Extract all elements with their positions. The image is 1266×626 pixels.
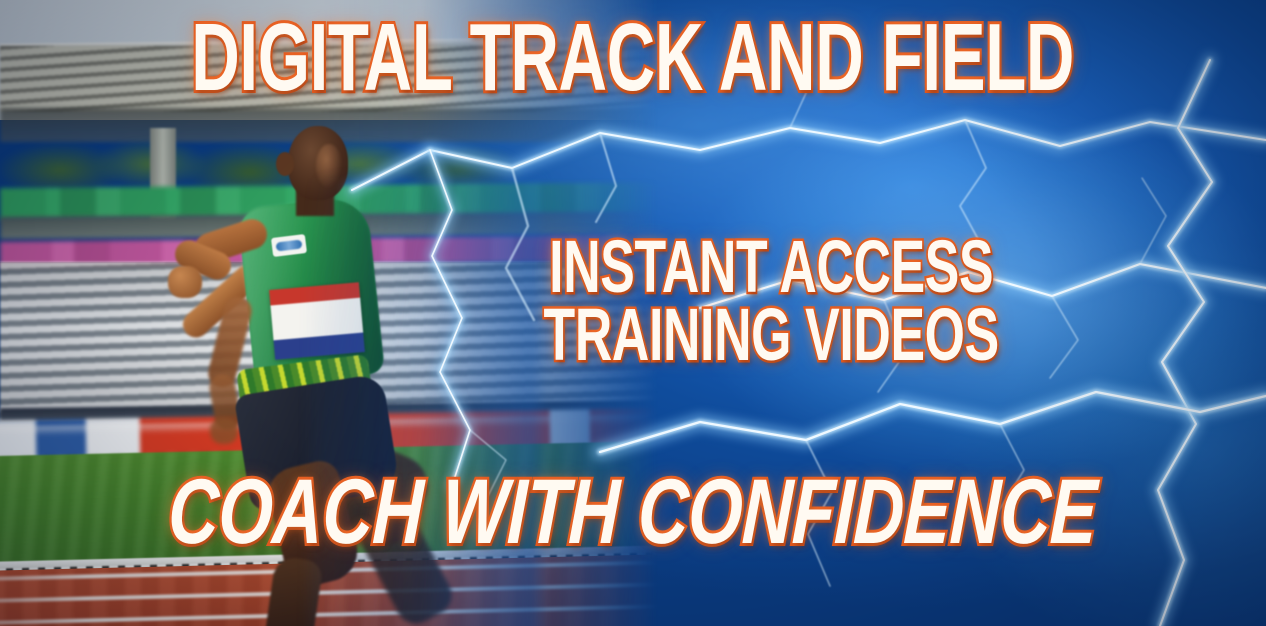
tagline-text: COACH WITH CONFIDENCE [167, 466, 1099, 558]
tagline-coach-with-confidence: COACH WITH CONFIDENCE [0, 466, 1266, 558]
headline-text: DIGITAL TRACK AND FIELD [192, 10, 1075, 106]
subhead-training-videos: TRAINING VIDEOS [300, 298, 1242, 372]
poster-canvas: DIGITAL TRACK AND FIELD INSTANT ACCESS T… [0, 0, 1266, 626]
text-layer: DIGITAL TRACK AND FIELD INSTANT ACCESS T… [0, 0, 1266, 626]
headline-digital-track-and-field: DIGITAL TRACK AND FIELD [0, 10, 1266, 106]
subhead-line-2-text: TRAINING VIDEOS [543, 298, 998, 372]
